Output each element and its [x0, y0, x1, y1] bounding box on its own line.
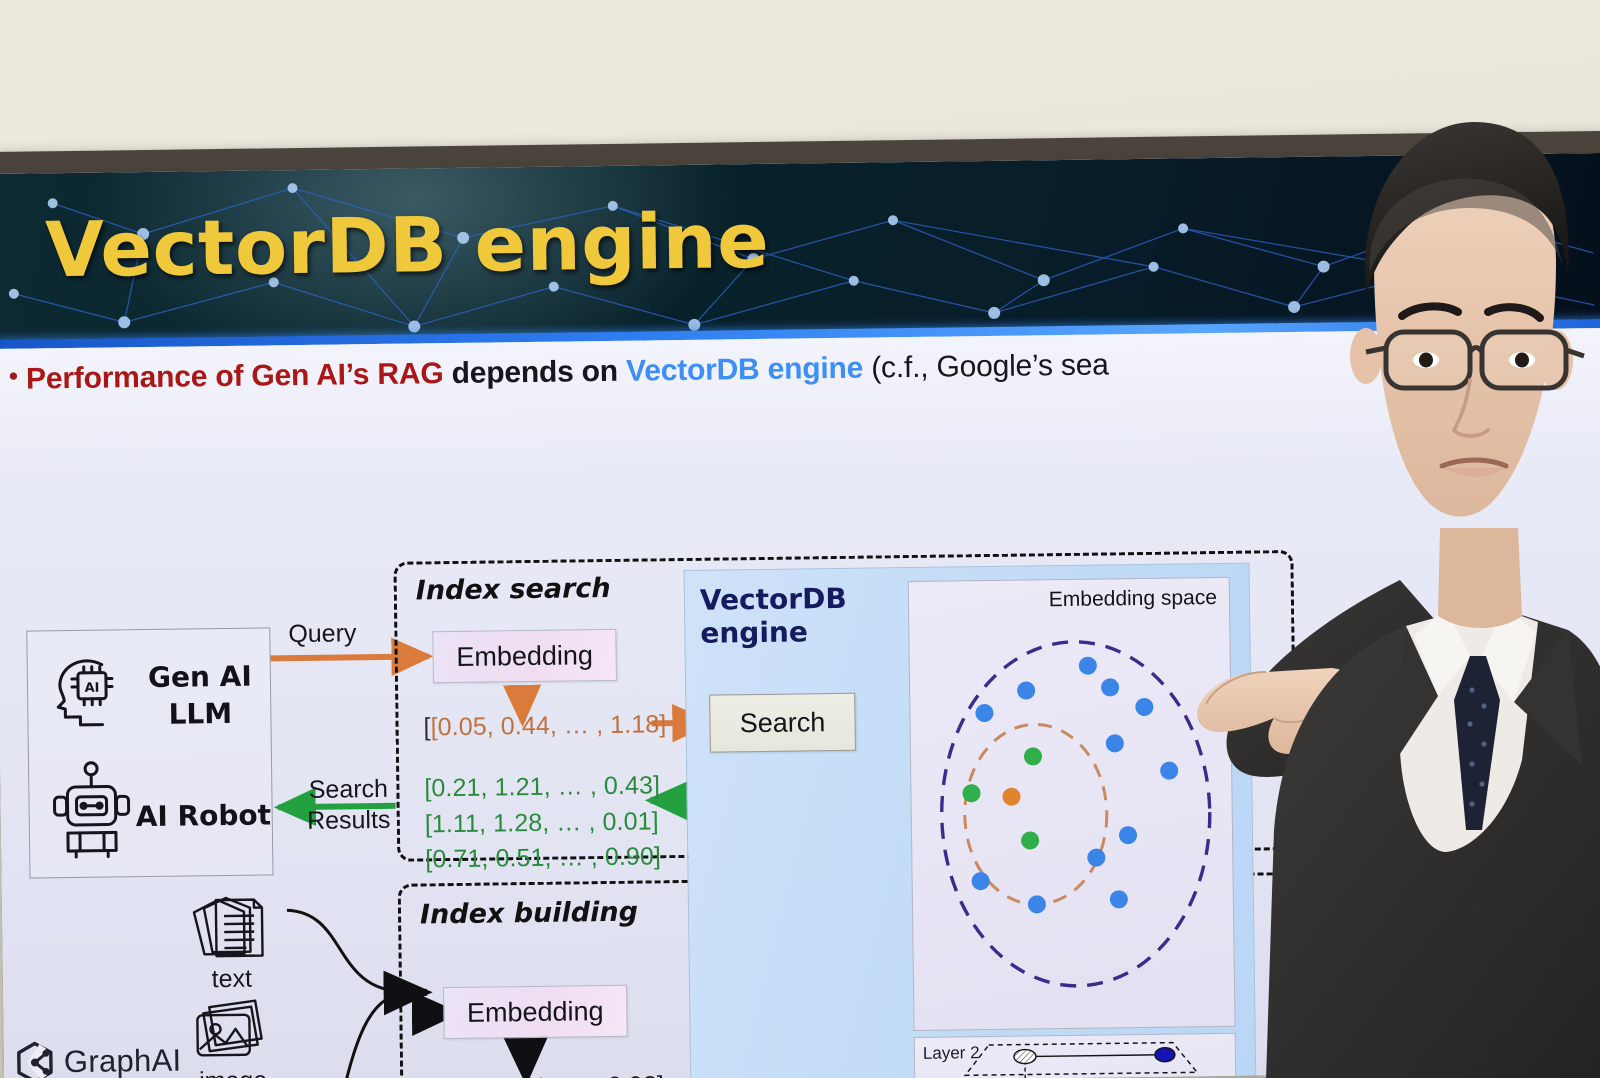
- vectordb-title-line2: engine: [700, 615, 847, 650]
- gen-ai-label-line2: LLM: [140, 695, 260, 734]
- presenter-person: [1170, 60, 1600, 1078]
- ai-robot-label: AI Robot: [135, 798, 271, 833]
- graphai-hexagon-icon: [14, 1041, 57, 1078]
- clients-box: AI Gen AI LLM: [26, 627, 273, 878]
- source-image-label: image: [190, 1066, 276, 1078]
- gen-ai-llm-label: Gen AI LLM: [140, 659, 261, 734]
- index-building-title: Index building: [420, 897, 638, 931]
- search-results-label-line2: Results: [289, 805, 409, 838]
- vectordb-title-line1: VectorDB: [700, 582, 847, 617]
- index-search-embedding-box[interactable]: Embedding: [432, 629, 617, 683]
- ai-head-icon: AI: [46, 648, 131, 733]
- search-results-label-line1: Search: [288, 774, 408, 807]
- result-vector-2: [0.71, 0.51, … , 0.90]: [425, 839, 661, 878]
- query-vector-point: [1002, 788, 1020, 806]
- graphai-logo: GraphAI: [14, 1040, 182, 1078]
- slide-title: VectorDB engine: [45, 196, 770, 294]
- graphai-logo-text: GraphAI: [64, 1043, 182, 1078]
- index-search-title: Index search: [416, 573, 611, 607]
- images-icon: [189, 998, 276, 1063]
- index-building-embedding-box[interactable]: Embedding: [443, 985, 628, 1039]
- index-building-embedding-label: Embedding: [467, 996, 604, 1029]
- source-image: image: [189, 998, 276, 1078]
- search-result-vectors: [0.21, 1.21, … , 0.43] [1.11, 1.28, … , …: [424, 768, 661, 878]
- gen-ai-label-line1: Gen AI: [140, 659, 260, 698]
- result-vector-1: [1.11, 1.28, … , 0.01]: [425, 804, 661, 843]
- index-search-embedding-label: Embedding: [456, 640, 593, 673]
- result-vector-0: [0.21, 1.21, … , 0.43]: [424, 768, 660, 807]
- corpus-vector-points: [969, 656, 1180, 915]
- search-box-label: Search: [740, 707, 826, 739]
- vectordb-engine-title: VectorDB engine: [700, 582, 848, 650]
- query-vector-text: [0.05, 0.44, … , 1.18]: [430, 710, 666, 741]
- svg-text:AI: AI: [84, 681, 99, 696]
- query-arrow-label: Query: [288, 619, 356, 649]
- robot-icon: [47, 758, 136, 859]
- query-vector: [[0.05, 0.44, … , 1.18]: [423, 710, 666, 742]
- neighbor-vector-points: [962, 747, 1043, 850]
- source-text: text: [188, 893, 275, 994]
- neck: [1438, 528, 1522, 628]
- hnsw-layer-2-label: Layer 2: [923, 1043, 980, 1064]
- search-box[interactable]: Search: [709, 693, 856, 753]
- search-results-arrow-label: Search Results: [288, 774, 409, 838]
- documents-icon: [188, 893, 275, 962]
- source-text-label: text: [189, 964, 275, 994]
